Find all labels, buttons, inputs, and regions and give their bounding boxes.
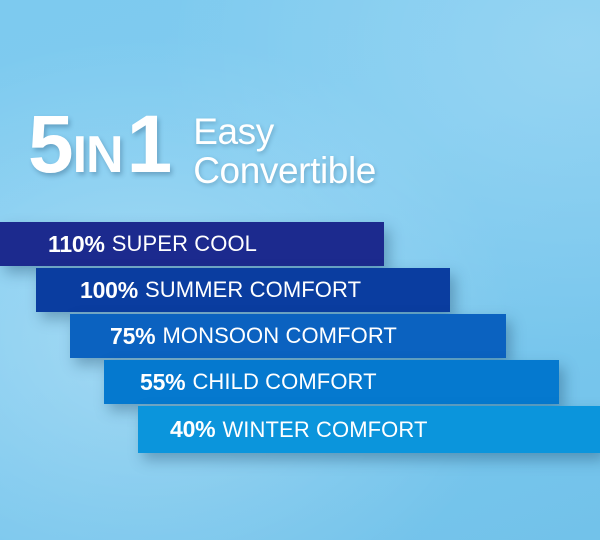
bar-value-label: 110%	[48, 231, 105, 258]
bar-value-label: 75%	[110, 323, 155, 350]
bar-row: 40% WINTER COMFORT	[138, 406, 600, 453]
headline: 5 IN 1 Easy Convertible	[28, 104, 376, 190]
bar-category-label: SUPER COOL	[112, 231, 257, 257]
headline-number-five: 5	[28, 104, 72, 186]
bar-value-label: 40%	[170, 416, 215, 443]
headline-subtitle-line-2: Convertible	[193, 151, 376, 190]
bar-row: 110% SUPER COOL	[0, 222, 384, 266]
bar-category-label: WINTER COMFORT	[222, 417, 427, 443]
headline-subtitle: Easy Convertible	[193, 112, 376, 190]
headline-subtitle-line-1: Easy	[193, 112, 376, 151]
bar-row: 55% CHILD COMFORT	[104, 360, 559, 404]
bar-row: 75% MONSOON COMFORT	[70, 314, 506, 358]
bar-row: 100% SUMMER COMFORT	[36, 268, 450, 312]
bar-category-label: MONSOON COMFORT	[162, 323, 397, 349]
poster-canvas: 5 IN 1 Easy Convertible 110% SUPER COOL …	[0, 0, 600, 540]
bar-category-label: SUMMER COMFORT	[145, 277, 361, 303]
headline-number-one: 1	[127, 104, 172, 186]
bar-category-label: CHILD COMFORT	[192, 369, 376, 395]
headline-five-in-one: 5 IN 1	[28, 104, 171, 186]
bar-value-label: 100%	[80, 277, 138, 304]
bar-value-label: 55%	[140, 369, 185, 396]
headline-word-in: IN	[73, 129, 123, 181]
